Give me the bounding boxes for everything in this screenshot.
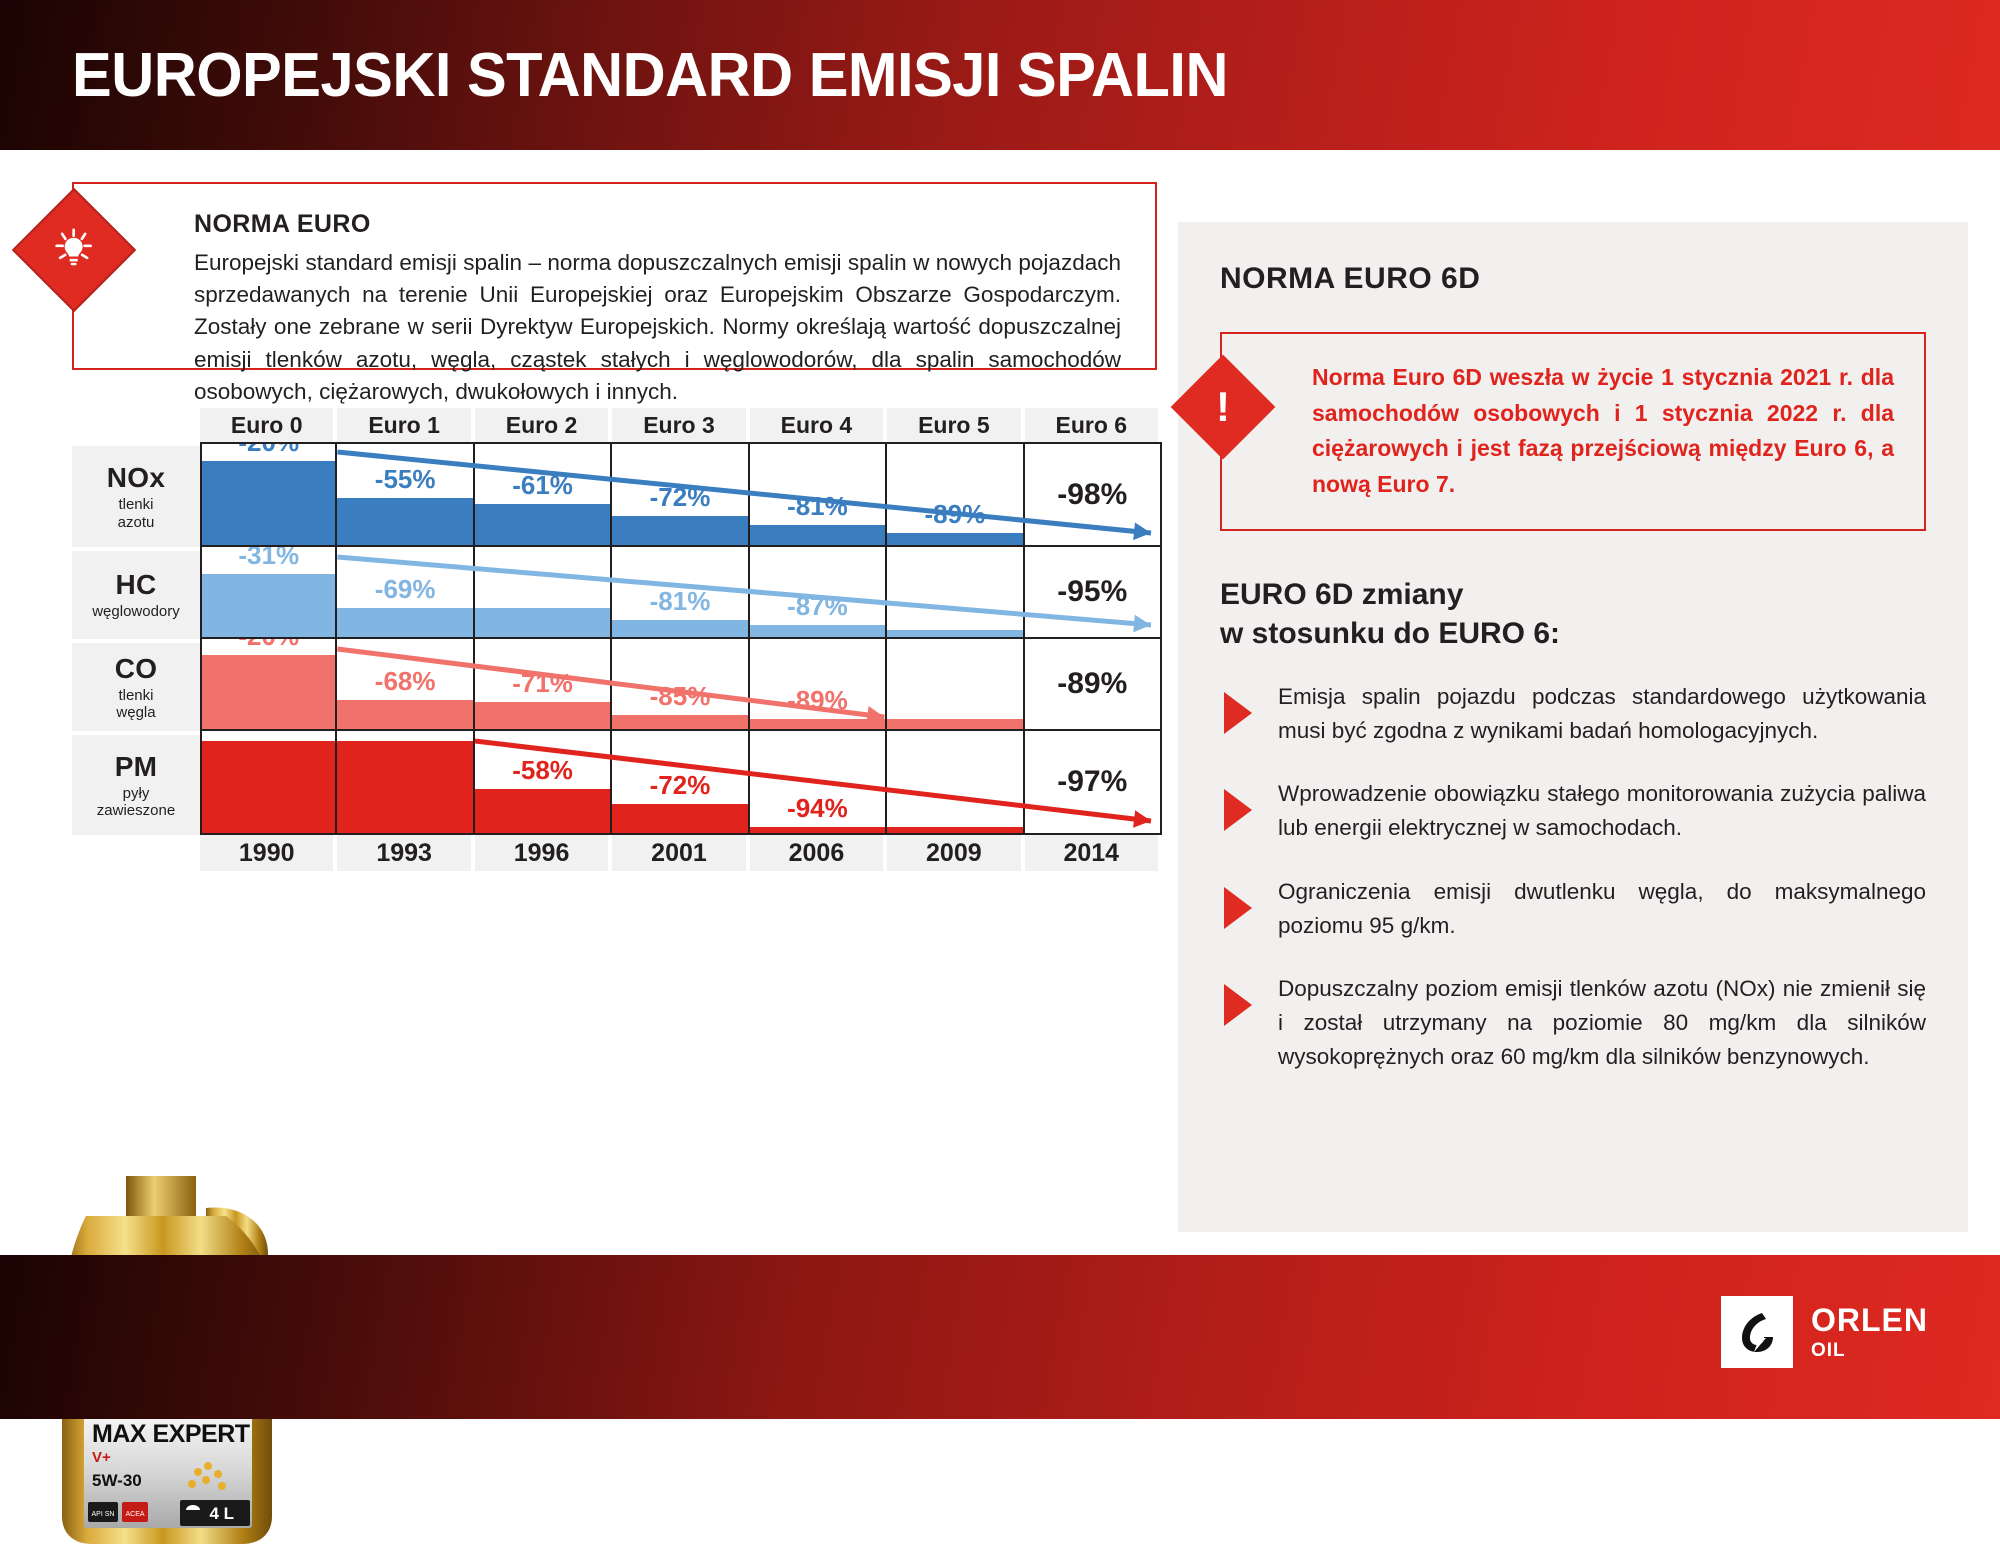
triangle-bullet-icon [1224,789,1252,831]
chart-cell: -89% [887,442,1024,547]
chart-bar [612,804,747,833]
norma-euro-card: NORMA EURO Europejski standard emisji sp… [72,182,1157,370]
orlen-eagle-icon [1721,1296,1793,1368]
chart-year-label: 1996 [475,835,612,871]
chart-total-nox: -98% [1025,442,1162,547]
chart-bar [337,498,472,545]
chart-year-axis: 1990199319962001200620092014 [72,835,1162,871]
chart-value-label: -71% [475,668,610,699]
chart-col-header: Euro 3 [612,408,749,442]
chart-year-label: 2006 [750,835,887,871]
euro6d-alert-card: ! Norma Euro 6D weszła w życie 1 styczni… [1220,332,1926,531]
chart-col-header: Euro 6 [1025,408,1162,442]
bullet-item: Wprowadzenie obowiązku stałego monitorow… [1220,777,1926,845]
chart-value-label: -72% [612,770,747,801]
chart-row-label-co: COtlenkiwęgla [72,639,200,731]
chart-value-label: -89% [750,685,885,716]
euro6d-changes-heading-line2: w stosunku do EURO 6: [1220,614,1968,654]
chart-cell [887,547,1024,639]
norma-euro-text: Europejski standard emisji spalin – norm… [194,247,1121,408]
chart-value-label: -68% [337,666,472,697]
chart-cell: -87% [750,547,887,639]
chart-cell: -81% [750,442,887,547]
chart-row-label-nox: NOxtlenkiazotu [72,442,200,547]
svg-text:ACEA: ACEA [125,1511,144,1518]
chart-col-header: Euro 2 [475,408,612,442]
chart-bar [202,461,335,545]
triangle-bullet-icon [1224,984,1252,1026]
chart-cell: -72% [612,442,749,547]
svg-text:MAX EXPERT: MAX EXPERT [92,1420,250,1448]
chart-cell [887,639,1024,731]
chart-bar [202,741,335,833]
chart-row-label-hc: HCwęglowodory [72,547,200,639]
chart-bar [887,827,1022,833]
triangle-bullet-icon [1224,692,1252,734]
bullet-item: Ograniczenia emisji dwutlenku węgla, do … [1220,875,1926,943]
chart-cell: -89% [750,639,887,731]
svg-text:4 L: 4 L [209,1504,234,1523]
chart-cell [337,731,474,835]
right-panel: NORMA EURO 6D ! Norma Euro 6D weszła w ż… [1178,222,1968,1232]
bullet-text: Ograniczenia emisji dwutlenku węgla, do … [1278,875,1926,943]
chart-value-label: -20% [202,639,335,652]
bullet-text: Wprowadzenie obowiązku stałego monitorow… [1278,777,1926,845]
chart-cell: -55% [337,442,474,547]
exclamation-icon: ! [1171,355,1276,460]
chart-row-sublabel: węglowodory [92,603,180,620]
chart-col-header: Euro 1 [337,408,474,442]
chart-value-label: -85% [612,681,747,712]
bullet-item: Dopuszczalny poziom emisji tlenków azotu… [1220,972,1926,1073]
chart-value-label: -69% [337,574,472,605]
svg-text:API SN: API SN [92,1511,115,1518]
chart-year-corner [72,835,200,871]
chart-corner [72,408,200,442]
chart-cell: -58% [475,731,612,835]
chart-bar [750,719,885,729]
chart-bar [612,516,747,545]
euro6d-changes-heading-line1: EURO 6D zmiany [1220,575,1968,615]
chart-bar [337,700,472,729]
chart-value-label: -20% [202,442,335,458]
chart-cell: -71% [475,639,612,731]
bullet-item: Emisja spalin pojazdu podczas standardow… [1220,680,1926,748]
chart-cell: -20% [200,442,337,547]
chart-bar [202,655,335,729]
chart-cell: -68% [337,639,474,731]
chart-col-header: Euro 5 [887,408,1024,442]
chart-row-sublabel: tlenkiwęgla [116,687,155,722]
chart-bar [612,620,747,637]
euro6d-alert-text: Norma Euro 6D weszła w życie 1 stycznia … [1312,360,1894,503]
orlen-logo-sub: OIL [1811,1341,1928,1360]
chart-bar [750,525,885,545]
bullet-text: Dopuszczalny poziom emisji tlenków azotu… [1278,972,1926,1073]
chart-value-label: -89% [887,499,1022,530]
chart-value-label: -58% [475,755,610,786]
page-header: EUROPEJSKI STANDARD EMISJI SPALIN [0,0,2000,150]
chart-year-label: 1990 [200,835,337,871]
svg-text:5W-30: 5W-30 [92,1471,142,1490]
chart-cell: -85% [612,639,749,731]
page-footer [0,1255,2000,1419]
chart-row-name: CO [115,653,158,685]
chart-bar [475,789,610,833]
page-title: EUROPEJSKI STANDARD EMISJI SPALIN [72,40,1228,111]
chart-bar [475,608,610,637]
chart-cell: -69% [337,547,474,639]
euro6d-changes-heading: EURO 6D zmiany w stosunku do EURO 6: [1220,575,1968,654]
euro6d-bullet-list: Emisja spalin pojazdu podczas standardow… [1220,680,1926,1074]
chart-grid: Euro 0Euro 1Euro 2Euro 3Euro 4Euro 5Euro… [72,408,1162,835]
chart-total-co: -89% [1025,639,1162,731]
left-column: NORMA EURO Europejski standard emisji sp… [0,150,1160,1250]
chart-bar [337,741,472,833]
chart-year-label: 2014 [1025,835,1162,871]
chart-cell [200,731,337,835]
chart-value-label: -81% [750,491,885,522]
chart-bar [337,608,472,637]
chart-total-pm: -97% [1025,731,1162,835]
emissions-chart: Euro 0Euro 1Euro 2Euro 3Euro 4Euro 5Euro… [72,408,1162,883]
chart-row-sublabel: pyłyzawieszone [97,785,175,820]
chart-bar [887,533,1022,545]
chart-bar [887,719,1022,729]
chart-year-label: 2009 [887,835,1024,871]
chart-col-header: Euro 4 [750,408,887,442]
chart-total-hc: -95% [1025,547,1162,639]
chart-cell: -94% [750,731,887,835]
triangle-bullet-icon [1224,887,1252,929]
svg-text:V+: V+ [92,1449,111,1466]
chart-value-label: -94% [750,793,885,824]
chart-cell: -81% [612,547,749,639]
chart-row-sublabel: tlenkiazotu [118,496,155,531]
chart-value-label: -81% [612,586,747,617]
norma-euro-title: NORMA EURO [194,210,1121,239]
chart-cell: -31% [200,547,337,639]
chart-row-name: HC [115,569,156,601]
chart-row-name: PM [115,751,158,783]
chart-bar [475,702,610,729]
chart-year-label: 2001 [612,835,749,871]
chart-bar [887,630,1022,637]
chart-year-label: 1993 [337,835,474,871]
chart-bar [475,504,610,545]
chart-value-label: -72% [612,482,747,513]
chart-value-label: -61% [475,470,610,501]
chart-cell: -72% [612,731,749,835]
orlen-logo: ORLEN OIL [1721,1296,1928,1368]
chart-value-label: -87% [750,591,885,622]
chart-bar [202,574,335,637]
chart-value-label: -55% [337,464,472,495]
bullet-text: Emisja spalin pojazdu podczas standardow… [1278,680,1926,748]
chart-bar [750,625,885,637]
chart-cell [475,547,612,639]
chart-bar [612,715,747,729]
orlen-logo-name: ORLEN [1811,1304,1928,1336]
chart-row-name: NOx [107,462,165,494]
chart-value-label: -31% [202,547,335,571]
chart-cell [887,731,1024,835]
right-panel-title: NORMA EURO 6D [1220,262,1968,296]
chart-row-label-pm: PMpyłyzawieszone [72,731,200,835]
chart-cell: -61% [475,442,612,547]
chart-cell: -20% [200,639,337,731]
chart-col-header: Euro 0 [200,408,337,442]
chart-bar [750,827,885,833]
